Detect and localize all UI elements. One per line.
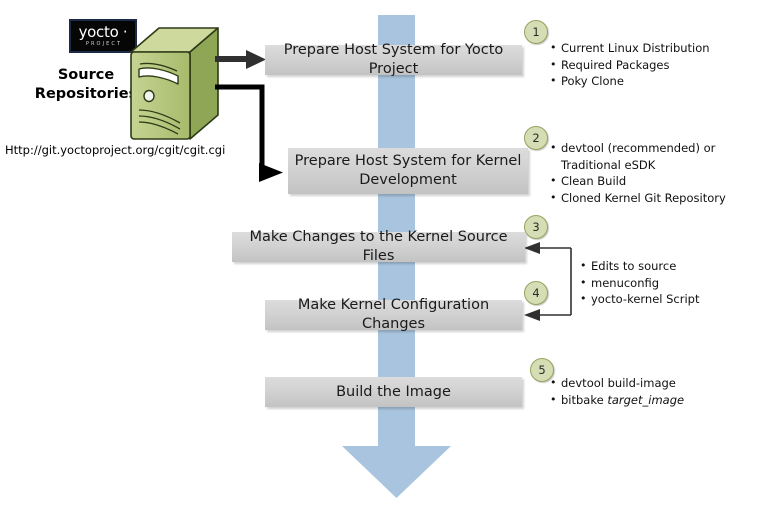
step-badge-4: 4 (524, 281, 548, 305)
list-item: Clean Build (550, 173, 726, 190)
list-item: devtool build-image (550, 375, 684, 392)
process-box-step-2-label: Prepare Host System for Kernel Developme… (295, 152, 522, 190)
source-repository-url: Http://git.yoctoproject.org/cgit/cgit.cg… (5, 143, 225, 157)
step-badge-3: 3 (524, 215, 548, 239)
list-item: devtool (recommended) or Traditional eSD… (550, 140, 726, 173)
flow-arrowhead-icon (340, 424, 453, 500)
command-name: bitbake (561, 393, 607, 407)
workflow-diagram: yocto · PROJECT Source Repositories Http… (0, 0, 769, 517)
process-box-step-3[interactable]: Make Changes to the Kernel Source Files (232, 232, 525, 262)
list-item: Current Linux Distribution (550, 40, 710, 57)
step-badge-1-number: 1 (532, 25, 539, 39)
server-icon (128, 26, 220, 141)
step-badge-5-number: 5 (538, 363, 545, 377)
yocto-project-logo: yocto · PROJECT (69, 19, 137, 53)
process-box-step-2-line-2: Development (359, 172, 457, 188)
process-box-step-1[interactable]: Prepare Host System for Yocto Project (265, 45, 522, 75)
process-box-step-1-label: Prepare Host System for Yocto Project (265, 41, 522, 79)
process-box-step-4[interactable]: Make Kernel Configuration Changes (265, 300, 522, 330)
process-box-step-5[interactable]: Build the Image (265, 377, 522, 407)
list-item: Cloned Kernel Git Repository (550, 190, 726, 207)
list-item: bitbake target_image (550, 392, 684, 409)
list-item: Edits to source (580, 258, 700, 275)
step-badge-2: 2 (524, 126, 548, 150)
bullet-list-step-1: Current Linux Distribution Required Pack… (550, 40, 710, 90)
process-box-step-5-label: Build the Image (336, 383, 451, 402)
list-item: menuconfig (580, 275, 700, 292)
logo-subtext: PROJECT (84, 42, 122, 47)
bullet-list-step-2: devtool (recommended) or Traditional eSD… (550, 140, 726, 206)
command-argument: target_image (607, 393, 684, 407)
list-item: Poky Clone (550, 73, 710, 90)
process-box-step-2-line-1: Prepare Host System for Kernel (295, 153, 522, 169)
step-badge-1: 1 (524, 20, 548, 44)
process-box-step-2[interactable]: Prepare Host System for Kernel Developme… (288, 148, 528, 194)
step-badge-4-number: 4 (532, 286, 539, 300)
list-item: yocto-kernel Script (580, 291, 700, 308)
list-item: Required Packages (550, 57, 710, 74)
bullet-list-step-5: devtool build-image bitbake target_image (550, 375, 684, 408)
list-item-line-2: Traditional eSDK (561, 157, 726, 174)
process-box-step-4-label: Make Kernel Configuration Changes (265, 296, 522, 334)
step-badge-3-number: 3 (532, 220, 539, 234)
bullet-list-steps-3-4: Edits to source menuconfig yocto-kernel … (580, 258, 700, 308)
logo-wordmark: yocto · (79, 25, 128, 40)
process-box-step-3-label: Make Changes to the Kernel Source Files (232, 228, 525, 266)
step-badge-2-number: 2 (532, 131, 539, 145)
list-item-line-1: devtool (recommended) or (561, 141, 715, 155)
